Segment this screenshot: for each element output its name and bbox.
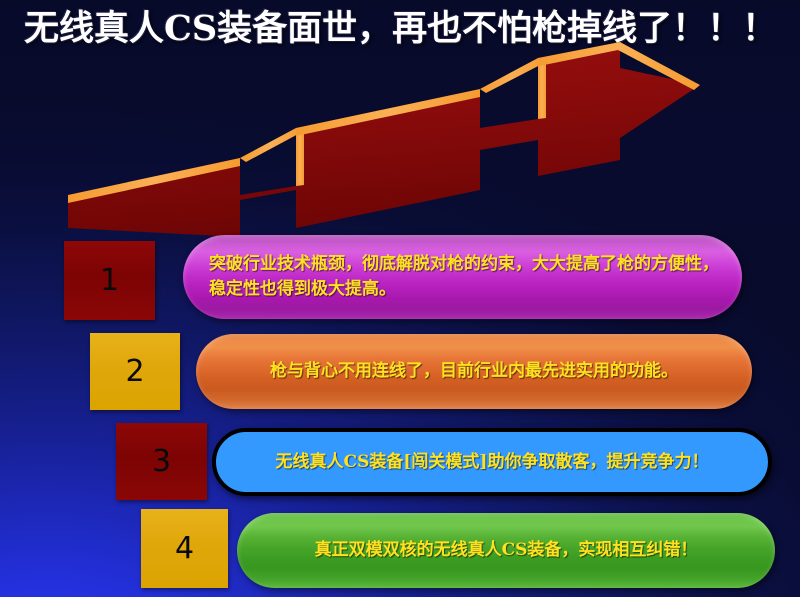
row-number-2: 2 xyxy=(125,354,144,389)
row-number-box-2: 2 xyxy=(90,333,180,410)
row-pill-1[interactable]: 突破行业技术瓶颈，彻底解脱对枪的约束，大大提高了枪的方便性，稳定性也得到极大提高… xyxy=(183,235,742,319)
presentation-slide: 无线真人CS装备面世，再也不怕枪掉线了！！！ xyxy=(0,0,800,597)
row-number-box-4: 4 xyxy=(141,509,228,588)
page-title: 无线真人CS装备面世，再也不怕枪掉线了！！！ xyxy=(24,10,784,49)
row-text-1: 突破行业技术瓶颈，彻底解脱对枪的约束，大大提高了枪的方便性，稳定性也得到极大提高… xyxy=(209,252,720,301)
row-text-4: 真正双模双核的无线真人CS装备，实现相互纠错！ xyxy=(315,538,698,563)
row-number-3: 3 xyxy=(152,444,171,479)
row-number-box-1: 1 xyxy=(64,241,155,320)
row-pill-2[interactable]: 枪与背心不用连线了，目前行业内最先进实用的功能。 xyxy=(196,334,752,409)
row-text-3: 无线真人CS装备[闯关模式]助你争取散客，提升竞争力！ xyxy=(276,450,709,475)
row-pill-4[interactable]: 真正双模双核的无线真人CS装备，实现相互纠错！ xyxy=(237,513,775,588)
row-number-box-3: 3 xyxy=(116,423,207,500)
row-number-4: 4 xyxy=(175,531,194,566)
row-text-2: 枪与背心不用连线了，目前行业内最先进实用的功能。 xyxy=(270,359,678,384)
row-number-1: 1 xyxy=(100,263,119,298)
row-pill-3[interactable]: 无线真人CS装备[闯关模式]助你争取散客，提升竞争力！ xyxy=(212,428,772,496)
